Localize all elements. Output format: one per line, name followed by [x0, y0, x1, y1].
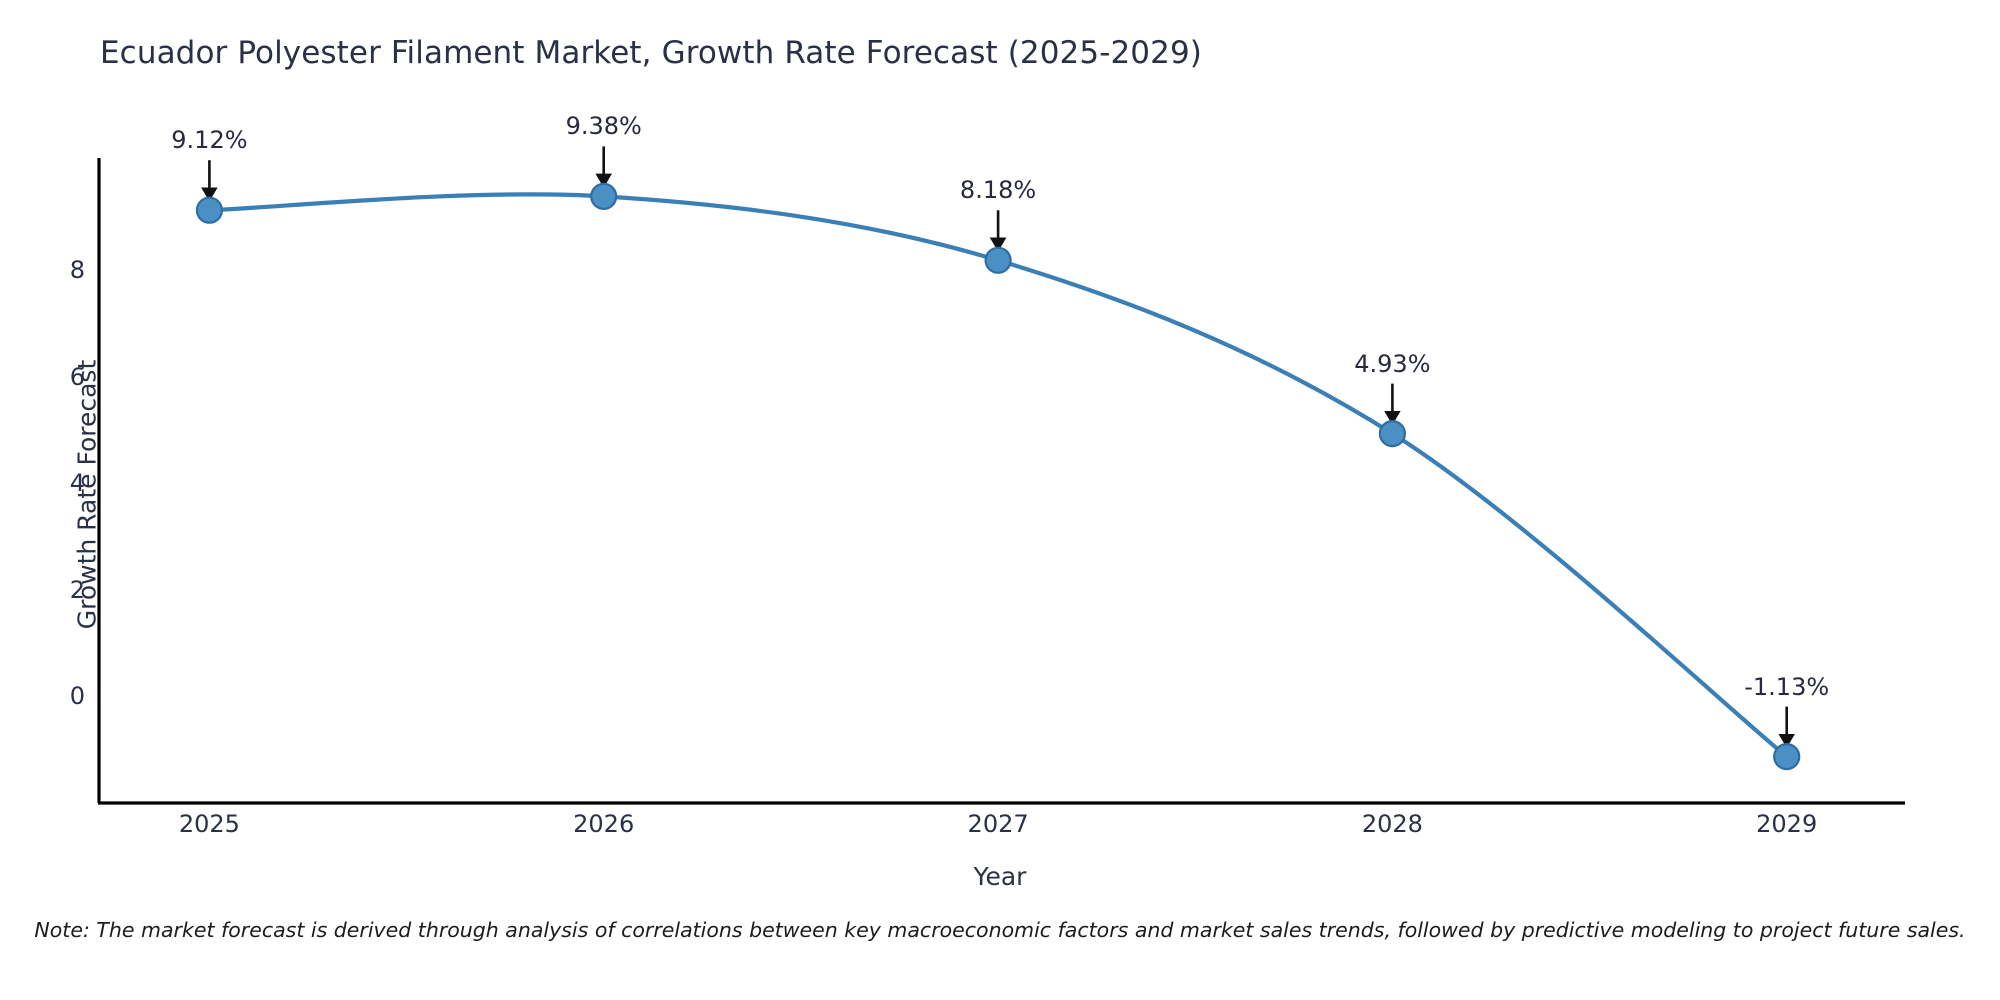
footnote-note: Note: The market forecast is derived thr… — [0, 918, 2000, 942]
data-point-2026[interactable] — [591, 184, 616, 209]
data-point-2025[interactable] — [197, 198, 222, 223]
chart-figure: Ecuador Polyester Filament Market, Growt… — [0, 0, 2000, 1000]
data-point-2028[interactable] — [1380, 421, 1405, 446]
forecast-line — [209, 194, 1786, 756]
data-markers — [197, 184, 1799, 769]
data-point-2029[interactable] — [1774, 744, 1799, 769]
data-point-2027[interactable] — [986, 248, 1011, 273]
plot-canvas — [0, 0, 2000, 1000]
annotation-arrows — [209, 146, 1786, 740]
